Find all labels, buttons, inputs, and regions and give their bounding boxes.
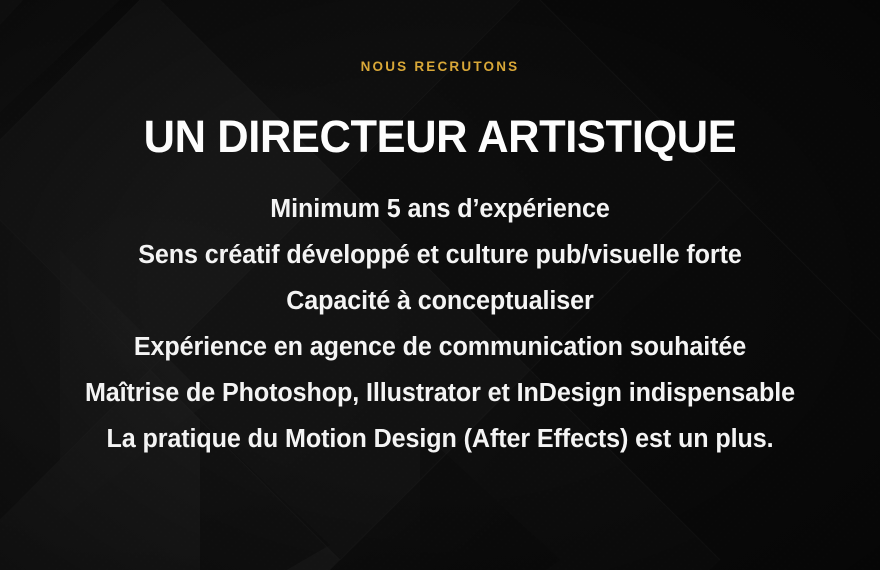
list-item: Sens créatif développé et culture pub/vi… — [7, 232, 874, 278]
job-posting-poster: NOUS RECRUTONS UN DIRECTEUR ARTISTIQUE M… — [0, 0, 880, 570]
list-item: Expérience en agence de communication so… — [7, 324, 874, 370]
list-item: La pratique du Motion Design (After Effe… — [7, 416, 874, 462]
list-item: Capacité à conceptualiser — [7, 278, 874, 324]
requirements-list: Minimum 5 ans d’expérience Sens créatif … — [0, 186, 880, 462]
list-item: Maîtrise de Photoshop, Illustrator et In… — [7, 370, 874, 416]
poster-content: NOUS RECRUTONS UN DIRECTEUR ARTISTIQUE M… — [0, 0, 880, 570]
list-item: Minimum 5 ans d’expérience — [7, 186, 874, 232]
page-title: UN DIRECTEUR ARTISTIQUE — [15, 113, 864, 161]
eyebrow-label: NOUS RECRUTONS — [0, 59, 880, 74]
